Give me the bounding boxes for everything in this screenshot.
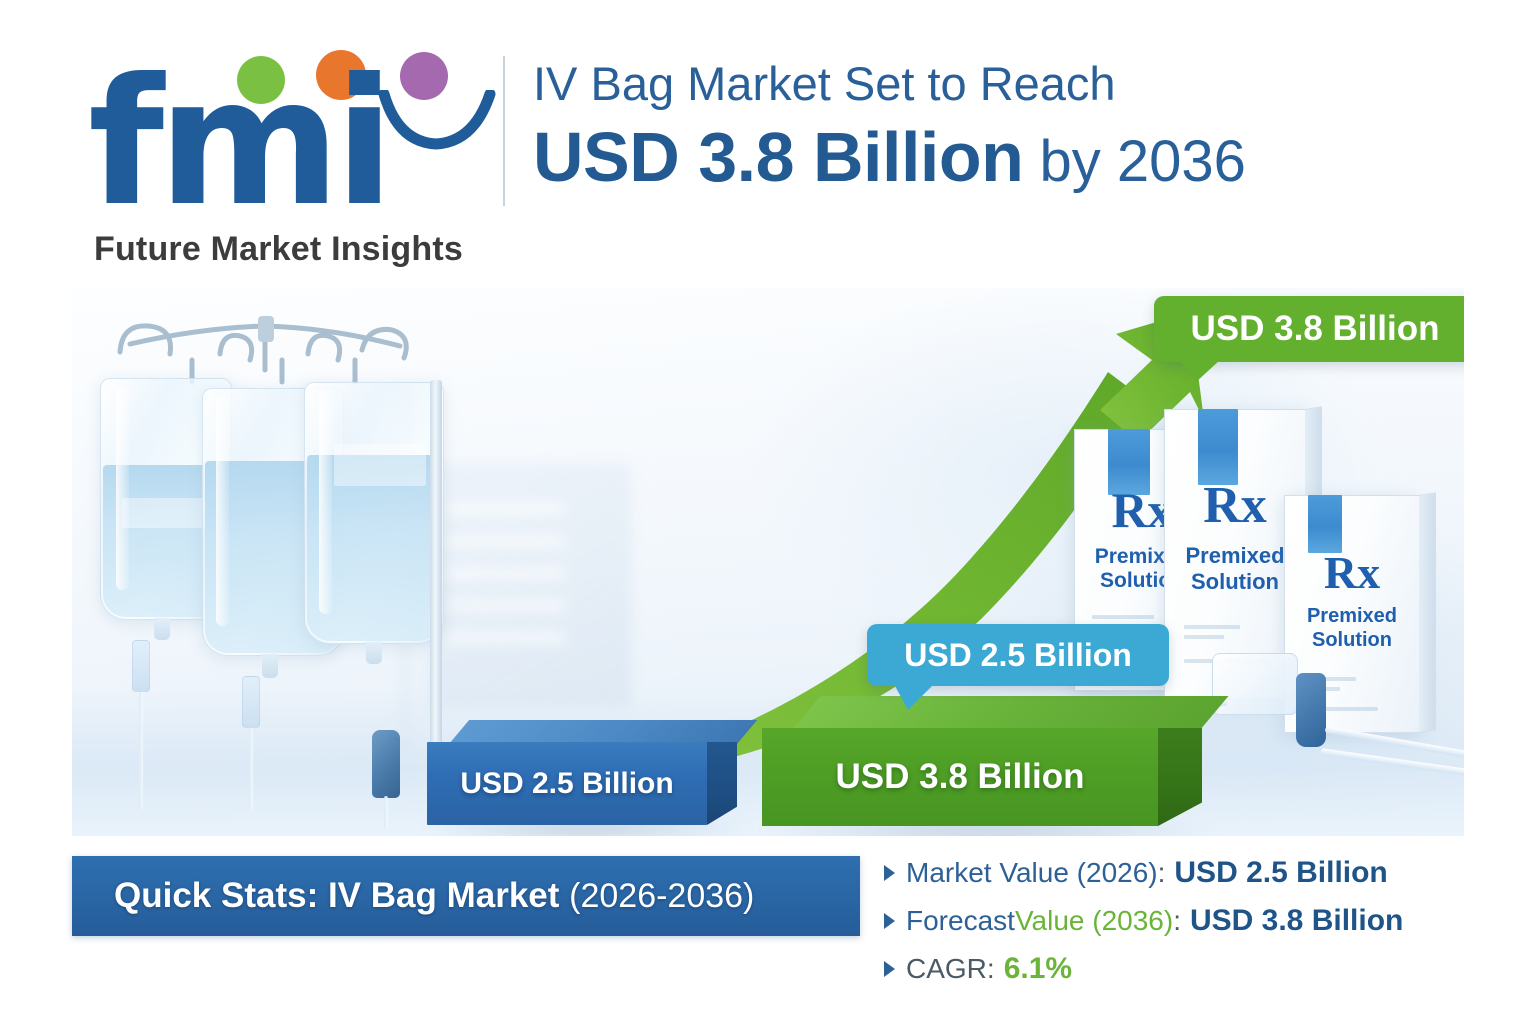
iv-bag-gloss	[216, 396, 229, 626]
fmi-logo: fmi Future Market Insights	[88, 42, 488, 267]
connector-blue-cap	[1296, 673, 1326, 747]
rx-box-tape	[1198, 409, 1238, 485]
footer: Quick Stats: IV Bag Market (2026-2036) M…	[0, 848, 1536, 1024]
iv-bag-port	[366, 642, 382, 664]
iv-bag-label	[122, 498, 206, 528]
iv-bag-label	[334, 444, 426, 486]
iv-valve	[372, 730, 400, 798]
iv-connector-assembly	[1192, 643, 1464, 823]
stat-label-cagr: CAGR	[906, 953, 987, 985]
bar-2036-side-face	[1158, 728, 1202, 826]
stats-list: Market Value (2026) : USD 2.5 Billion Fo…	[884, 856, 1504, 1000]
rx-symbol: Rx	[1284, 551, 1420, 595]
stat-colon: :	[987, 953, 995, 985]
callout-forecast-tail	[1180, 360, 1220, 382]
rx-box-subtitle: Premixed	[1284, 605, 1420, 629]
stat-value-forecast-value: USD 3.8 Billion	[1190, 904, 1403, 938]
bullet-triangle-icon	[884, 961, 895, 977]
bar-2026-top-face	[449, 720, 757, 744]
title-block: IV Bag Market Set to Reach USD 3.8 Billi…	[533, 58, 1463, 196]
page-title-highlight: USD 3.8 Billion	[533, 118, 1023, 196]
callout-forecast-value: USD 3.8 Billion	[1154, 296, 1464, 362]
page-title: USD 3.8 Billion by 2036	[533, 119, 1463, 196]
bar-2036: USD 3.8 Billion	[762, 696, 1202, 826]
iv-tube	[139, 692, 143, 810]
quick-stats-title-period: (2026-2036)	[569, 877, 754, 915]
quick-stats-title-bold: Quick Stats: IV Bag Market	[114, 876, 569, 915]
logo-tagline: Future Market Insights	[94, 230, 463, 269]
iv-bag-port	[262, 654, 278, 678]
quick-stats-title: Quick Stats: IV Bag Market (2026-2036)	[114, 876, 754, 916]
logo-wordmark: fmi	[88, 56, 388, 231]
stat-value-cagr: 6.1%	[1004, 952, 1072, 986]
iv-bag-gloss	[319, 390, 332, 614]
stat-label-forecast: Forecast	[906, 905, 1015, 937]
callout-current-value: USD 2.5 Billion	[867, 624, 1169, 686]
callout-current-tail	[894, 684, 934, 710]
rx-box-fineprint	[1184, 625, 1240, 629]
rx-box-fineprint	[1184, 635, 1224, 639]
stat-colon: :	[1173, 905, 1181, 937]
bullet-triangle-icon	[884, 913, 895, 929]
quick-stats-banner: Quick Stats: IV Bag Market (2026-2036)	[72, 856, 860, 936]
stat-row-forecast-value: Forecast Value (2036) : USD 3.8 Billion	[884, 904, 1504, 938]
iv-bag-gloss	[116, 386, 129, 590]
iv-drip-chamber	[132, 640, 150, 692]
stat-row-market-value: Market Value (2026) : USD 2.5 Billion	[884, 856, 1504, 890]
bullet-triangle-icon	[884, 865, 895, 881]
header: fmi Future Market Insights IV Bag Market…	[0, 0, 1536, 285]
bar-2036-top-face	[792, 696, 1229, 730]
header-divider	[503, 56, 505, 206]
logo-figure-arms-icon	[378, 90, 498, 160]
stat-label-forecast-year: Value (2036)	[1015, 905, 1173, 937]
page-subtitle: IV Bag Market Set to Reach	[533, 58, 1463, 111]
iv-tube	[249, 728, 253, 810]
bar-2026-label: USD 2.5 Billion	[427, 742, 707, 825]
iv-bag-port	[154, 618, 170, 640]
stat-colon: :	[1158, 857, 1166, 889]
iv-bag	[304, 382, 444, 644]
infographic-visual-panel: Rx Premixed Solution Rx Premixed Solutio…	[72, 288, 1464, 836]
stat-row-cagr: CAGR : 6.1%	[884, 952, 1504, 986]
bar-2026: USD 2.5 Billion	[427, 720, 737, 825]
rx-box-fineprint	[1092, 615, 1154, 619]
rx-box-tape	[1308, 495, 1342, 553]
stat-value-market-value: USD 2.5 Billion	[1174, 856, 1387, 890]
bar-2036-label: USD 3.8 Billion	[762, 728, 1158, 826]
bar-2026-side-face	[707, 742, 737, 825]
iv-drip-chamber	[242, 676, 260, 728]
page-title-suffix: by 2036	[1023, 129, 1246, 194]
iv-tube	[384, 796, 388, 830]
stat-label-market-value: Market Value (2026)	[906, 857, 1158, 889]
